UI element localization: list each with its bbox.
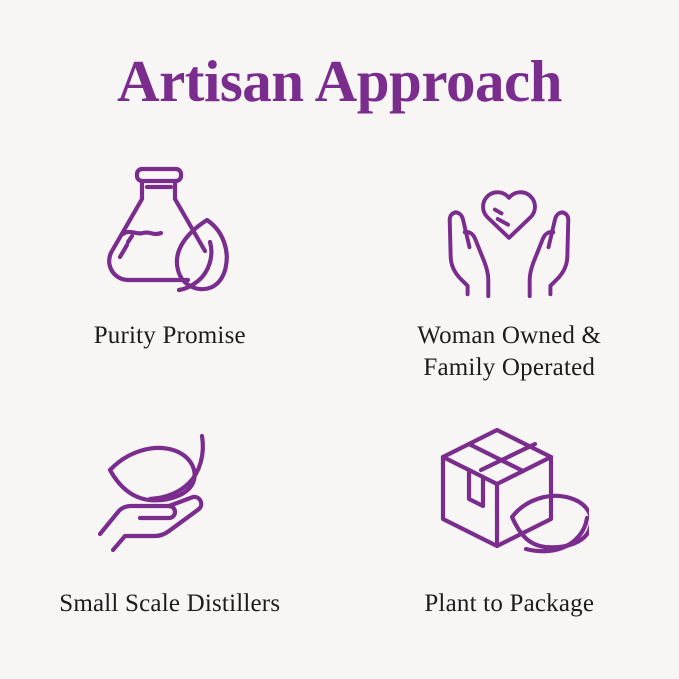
feature-label: Purity Promise (94, 320, 246, 352)
page-title: Artisan Approach (0, 46, 679, 116)
artisan-approach-panel: Artisan Approach (0, 0, 679, 679)
feature-grid: Purity Promise (0, 150, 679, 650)
flask-leaf-icon (90, 156, 250, 306)
feature-item-small-scale-distillers: Small Scale Distillers (0, 400, 340, 650)
feature-item-plant-to-package: Plant to Package (340, 400, 679, 650)
feature-item-purity-promise: Purity Promise (0, 150, 340, 400)
box-leaf-icon (429, 414, 589, 564)
hand-holding-leaf-icon (90, 414, 250, 564)
hands-holding-heart-icon (429, 160, 589, 310)
feature-label: Woman Owned & Family Operated (417, 320, 601, 384)
feature-label: Small Scale Distillers (59, 588, 280, 620)
feature-label: Plant to Package (424, 588, 594, 620)
feature-item-woman-owned: Woman Owned & Family Operated (340, 150, 679, 400)
